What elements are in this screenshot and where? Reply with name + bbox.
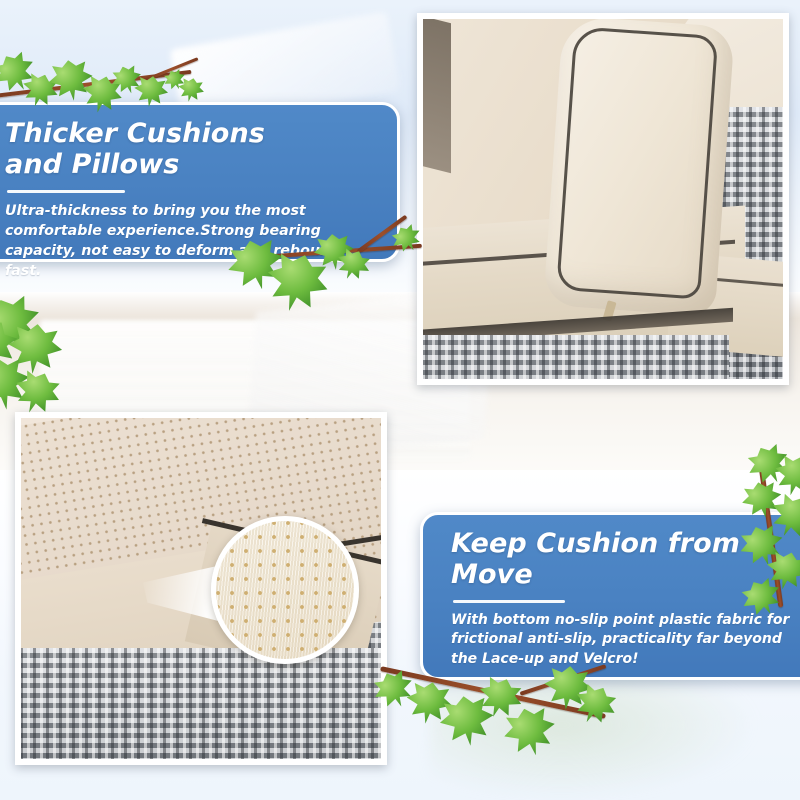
magnifier-detail-circle	[211, 516, 359, 664]
photo-cushion-pillow	[417, 13, 789, 385]
throw-pillow	[543, 19, 735, 317]
panel-divider	[453, 600, 565, 603]
rattan-base-weave	[423, 335, 729, 379]
infographic-canvas: Thicker Cushions and Pillows Ultra-thick…	[0, 0, 800, 800]
panel-description: With bottom no-slip point plastic fabric…	[451, 611, 797, 671]
panel-title: Thicker Cushions and Pillows	[5, 119, 375, 181]
feature-panel-thicker-cushions: Thicker Cushions and Pillows Ultra-thick…	[0, 102, 400, 262]
shadow-gap-left	[423, 19, 451, 173]
panel-divider	[7, 190, 125, 193]
rattan-base-weave	[21, 648, 381, 759]
panel-description: Ultra-thickness to bring you the most co…	[5, 201, 375, 282]
photo-antislip-fabric	[15, 412, 387, 765]
panel-title: Keep Cushion from Move	[451, 529, 797, 591]
feature-panel-keep-cushion-from-move: Keep Cushion from Move With bottom no-sl…	[420, 512, 800, 680]
